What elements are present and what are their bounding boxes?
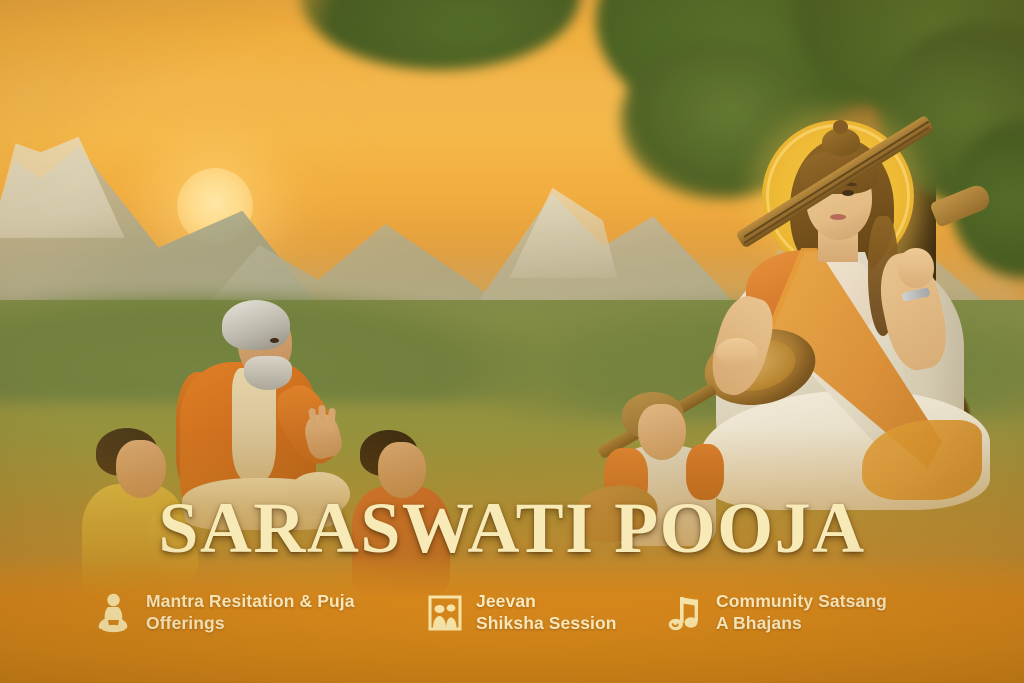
sage-hair	[222, 300, 290, 350]
feature-line-2: A Bhajans	[716, 612, 887, 634]
feature-label: Jeevan Shiksha Session	[476, 590, 617, 635]
feature-line-1: Mantra Resitation & Puja	[146, 591, 355, 611]
feature-line-1: Community Satsang	[716, 591, 887, 611]
two-people-board-icon	[426, 592, 464, 634]
page-title: SARASWATI POOJA	[0, 492, 1024, 564]
feature-line-2: Offerings	[146, 612, 355, 634]
feature-label: Community Satsang A Bhajans	[716, 590, 887, 635]
goddess-lips	[830, 214, 846, 220]
sage-eye	[270, 338, 279, 343]
feature-line-1: Jeevan	[476, 591, 536, 611]
goddess-eye	[842, 190, 854, 196]
sage-beard	[244, 356, 292, 390]
music-notes-icon	[666, 592, 704, 634]
saraswati-pooja-poster: SARASWATI POOJA Mantra Resitation & Puja…	[0, 0, 1024, 683]
seated-person-icon	[96, 592, 134, 634]
feature-line-2: Shiksha Session	[476, 612, 617, 634]
feature-list: Mantra Resitation & Puja Offerings Jeeva…	[0, 590, 1024, 652]
goddess-hair-knot	[833, 120, 848, 134]
feature-item-mantra: Mantra Resitation & Puja Offerings	[96, 590, 396, 635]
feature-item-shiksha: Jeevan Shiksha Session	[426, 590, 644, 635]
goddess-left-hand	[716, 338, 758, 368]
feature-label: Mantra Resitation & Puja Offerings	[146, 590, 355, 635]
feature-item-satsang: Community Satsang A Bhajans	[666, 590, 906, 635]
goddess-right-hand	[898, 248, 934, 288]
